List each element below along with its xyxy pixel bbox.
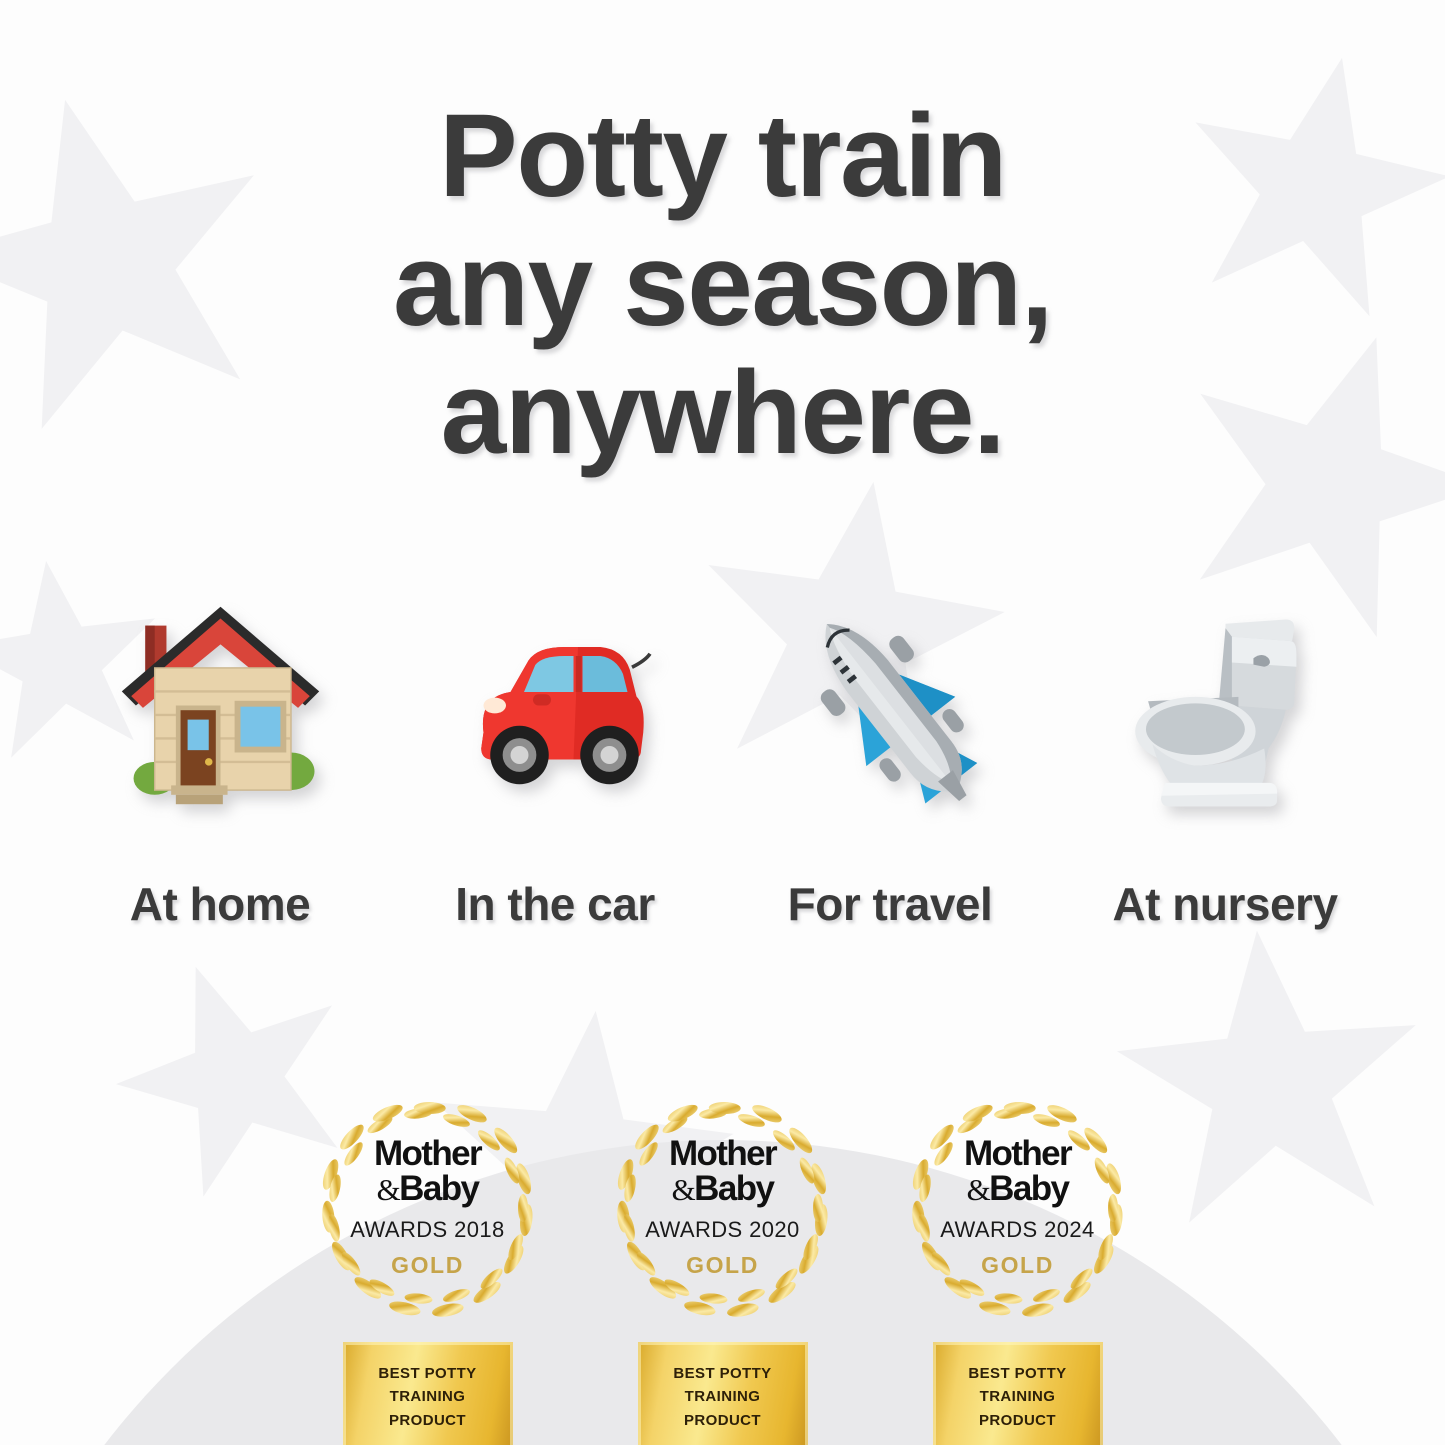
star-watermark	[1107, 917, 1432, 1242]
brand-baby-word: Baby	[399, 1169, 478, 1208]
brand-mother: Mother	[344, 1137, 512, 1171]
award-badge: Mother &Baby AWARDS 2024 GOLD BEST POTTY…	[893, 1092, 1143, 1445]
headline: Potty train any season, anywhere.	[0, 92, 1445, 478]
feature-item-at-home: At home	[70, 575, 370, 931]
award-tier: GOLD	[344, 1252, 512, 1279]
feature-row: At home	[70, 575, 1375, 931]
feature-label: In the car	[405, 877, 705, 931]
brand-baby: &Baby	[934, 1172, 1102, 1206]
laurel-wreath-icon: Mother &Baby AWARDS 2024 GOLD	[893, 1092, 1143, 1324]
award-tier: GOLD	[934, 1252, 1102, 1279]
headline-line-2: any season,	[0, 221, 1445, 350]
brand-ampersand: &	[672, 1172, 695, 1207]
award-plaque: BEST POTTY TRAINING PRODUCT	[343, 1342, 513, 1445]
award-plaque: BEST POTTY TRAINING PRODUCT	[638, 1342, 808, 1445]
promo-graphic: Potty train any season, anywhere.	[0, 0, 1445, 1445]
awards-year: AWARDS 2018	[344, 1217, 512, 1243]
feature-label: For travel	[740, 877, 1040, 931]
laurel-wreath-icon: Mother &Baby AWARDS 2020 GOLD	[598, 1092, 848, 1324]
brand-mother: Mother	[934, 1137, 1102, 1171]
plaque-line-2: TRAINING	[673, 1385, 771, 1408]
awards-row: Mother &Baby AWARDS 2018 GOLD BEST POTTY…	[303, 1092, 1143, 1445]
award-tier: GOLD	[639, 1252, 807, 1279]
feature-label: At nursery	[1075, 877, 1375, 931]
plaque-text: BEST POTTY TRAINING PRODUCT	[968, 1362, 1066, 1432]
car-icon	[405, 575, 705, 835]
plaque-line-2: TRAINING	[968, 1385, 1066, 1408]
award-plaque: BEST POTTY TRAINING PRODUCT	[933, 1342, 1103, 1445]
badge-text-block: Mother &Baby AWARDS 2018 GOLD	[344, 1137, 512, 1279]
brand-baby-word: Baby	[989, 1169, 1068, 1208]
headline-line-3: anywhere.	[0, 349, 1445, 478]
brand-baby: &Baby	[639, 1172, 807, 1206]
airplane-icon	[740, 575, 1040, 835]
brand-baby-word: Baby	[694, 1169, 773, 1208]
plaque-line-3: PRODUCT	[968, 1409, 1066, 1432]
plaque-line-1: BEST POTTY	[673, 1362, 771, 1385]
feature-label: At home	[70, 877, 370, 931]
brand-ampersand: &	[377, 1172, 400, 1207]
badge-text-block: Mother &Baby AWARDS 2020 GOLD	[639, 1137, 807, 1279]
headline-line-1: Potty train	[0, 92, 1445, 221]
awards-year: AWARDS 2020	[639, 1217, 807, 1243]
feature-item-in-the-car: In the car	[405, 575, 705, 931]
plaque-line-2: TRAINING	[378, 1385, 476, 1408]
brand-baby: &Baby	[344, 1172, 512, 1206]
brand-ampersand: &	[967, 1172, 990, 1207]
award-badge: Mother &Baby AWARDS 2020 GOLD BEST POTTY…	[598, 1092, 848, 1445]
plaque-line-1: BEST POTTY	[378, 1362, 476, 1385]
badge-text-block: Mother &Baby AWARDS 2024 GOLD	[934, 1137, 1102, 1279]
toilet-icon	[1075, 575, 1375, 835]
house-icon	[70, 575, 370, 835]
plaque-line-1: BEST POTTY	[968, 1362, 1066, 1385]
awards-year: AWARDS 2024	[934, 1217, 1102, 1243]
plaque-text: BEST POTTY TRAINING PRODUCT	[673, 1362, 771, 1432]
brand-mother: Mother	[639, 1137, 807, 1171]
feature-item-for-travel: For travel	[740, 575, 1040, 931]
laurel-wreath-icon: Mother &Baby AWARDS 2018 GOLD	[303, 1092, 553, 1324]
award-badge: Mother &Baby AWARDS 2018 GOLD BEST POTTY…	[303, 1092, 553, 1445]
plaque-line-3: PRODUCT	[378, 1409, 476, 1432]
plaque-text: BEST POTTY TRAINING PRODUCT	[378, 1362, 476, 1432]
plaque-line-3: PRODUCT	[673, 1409, 771, 1432]
feature-item-at-nursery: At nursery	[1075, 575, 1375, 931]
